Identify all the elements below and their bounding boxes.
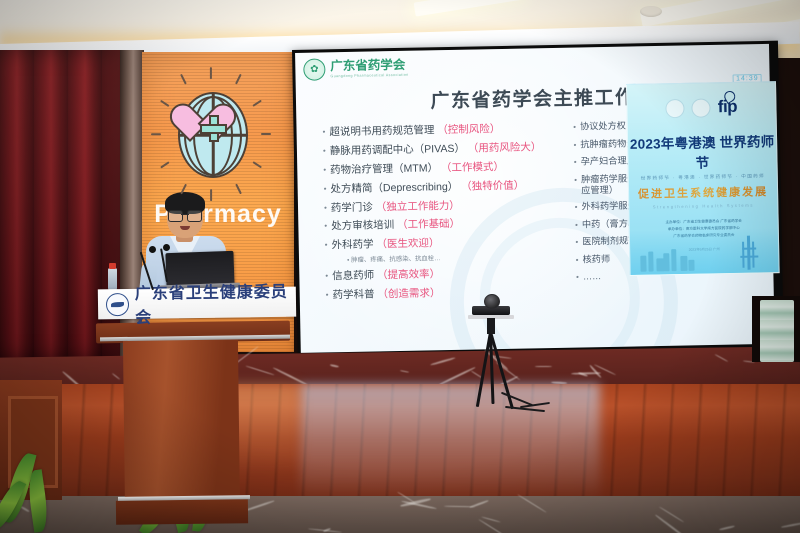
bullet-dot-icon: •	[325, 240, 328, 252]
bullet-dot-icon: •	[322, 126, 325, 138]
bullet-highlight: （提高效率）	[374, 268, 440, 281]
bullet-text: 药物治疗管理（MTM） （工作模式）	[330, 161, 504, 177]
speaker-glasses-icon	[168, 210, 202, 220]
building-shape	[663, 253, 669, 271]
slide-bullet: •信息药师 （提高效率）	[325, 266, 572, 283]
bullet-highlight: （独立工作能力）	[373, 199, 460, 213]
marble-vein	[430, 357, 455, 366]
camera-lens-icon	[484, 294, 500, 309]
marble-vein	[112, 372, 121, 379]
bullet-dot-icon: •	[324, 221, 327, 233]
bullet-highlight: （控制风险）	[434, 123, 500, 136]
medical-cross-icon	[203, 118, 220, 135]
podium-sign-text: 广东省卫生健康委员会	[135, 278, 297, 328]
association-name-en: Guangdong Pharmaceutical Association	[330, 73, 408, 78]
bullet-dot-icon: •	[573, 139, 576, 151]
podium-sign: 广东省卫生健康委员会	[98, 287, 296, 320]
bullet-text: 外科药学 （医生欢迎）	[331, 237, 439, 251]
marble-vein	[400, 370, 410, 373]
marble-vein	[535, 366, 552, 367]
slide-org-logo: 广东省药学会 Guangdong Pharmaceutical Associat…	[303, 57, 409, 81]
bullet-text: 处方精简（Deprescribing） （独特价值）	[330, 179, 524, 195]
banner-title-sub: 世界药师节 · 粤港澳 · 世界药师节 · 中国药师	[629, 173, 777, 182]
bullet-dot-icon: •	[575, 237, 578, 249]
banner-title: 2023年粤港澳 世界药师节	[628, 130, 777, 173]
bullet-highlight: （独特价值）	[458, 179, 524, 192]
bullet-dot-icon: •	[326, 289, 329, 301]
ceiling-light-fixture	[414, 0, 525, 17]
fip-logo: fip	[718, 97, 738, 117]
organizer-logo-icon	[666, 98, 685, 117]
marble-vein	[469, 500, 489, 509]
bullet-dot-icon: •	[575, 202, 578, 214]
slide-bullet: •药物治疗管理（MTM） （工作模式）	[323, 159, 570, 176]
slide-bullet: •药学科普 （创造需求）	[326, 285, 573, 302]
slide-bullet: •药学门诊 （独立工作能力）	[324, 197, 571, 214]
banner-subtitle: 促进卫生系统健康发展	[629, 183, 777, 202]
bullet-dot-icon: •	[574, 157, 577, 169]
water-bottle-cap	[109, 263, 116, 269]
bullet-dot-icon: •	[323, 164, 326, 176]
bullet-highlight: （用药风险大）	[465, 141, 542, 154]
microphone-head	[163, 244, 170, 251]
slide-left-column: •超说明书用药规范管理 （控制风险）•静脉用药调配中心（PIVAS） （用药风险…	[296, 122, 572, 309]
slide-bullet: •静脉用药调配中心（PIVAS） （用药风险大）	[323, 141, 570, 158]
bullet-dot-icon: •	[574, 174, 577, 186]
slide-sub-bullet: • 肿瘤、疼痛、抗感染、抗血栓…	[347, 251, 572, 264]
bullet-dot-icon: •	[324, 183, 327, 195]
sunburst-ray	[151, 133, 161, 135]
bullet-dot-icon: •	[576, 272, 579, 284]
banner-tower-icon	[736, 235, 763, 269]
bullet-highlight: （创造需求）	[374, 287, 440, 300]
marble-vein	[517, 494, 546, 513]
tower-segment	[742, 248, 756, 250]
marble-vein	[246, 365, 275, 375]
bullet-text: 药学科普 （创造需求）	[332, 287, 440, 301]
tower-segment	[740, 255, 758, 257]
floor-reflection-screen	[300, 384, 600, 502]
bullet-highlight: （工作模式）	[438, 161, 504, 174]
sunburst-ray	[210, 189, 212, 201]
building-shape	[640, 256, 646, 272]
association-name-cn: 广东省药学会	[330, 59, 408, 73]
bullet-highlight: （工作基础）	[394, 218, 460, 231]
marble-vein	[781, 522, 800, 528]
bullet-text: 处方审核培训 （工作基础）	[331, 218, 460, 233]
building-shape	[680, 256, 687, 271]
marble-vein	[715, 354, 729, 362]
building-shape	[671, 249, 676, 271]
sunburst-ray	[210, 67, 212, 79]
building-shape	[688, 260, 694, 271]
bullet-dot-icon: •	[324, 202, 327, 214]
marble-vein	[719, 525, 735, 531]
microphone-head	[149, 246, 156, 253]
marble-vein	[329, 364, 339, 368]
bullet-text: 核药师	[582, 254, 610, 265]
water-bottles	[760, 300, 794, 362]
bullet-dot-icon: •	[325, 270, 328, 282]
marble-vein	[478, 519, 508, 533]
conference-photo-scene: Pharmacy 广东省药学会 Guangdong Pharmaceutical…	[0, 0, 800, 533]
government-seal-icon	[106, 292, 129, 315]
tower-segment	[747, 236, 751, 270]
bullet-dot-icon: •	[323, 145, 326, 157]
association-seal-icon	[303, 58, 325, 80]
marble-vein	[20, 506, 29, 513]
banner-subtitle-en: Strengthening Health Systems	[629, 202, 777, 210]
bullet-highlight: （医生欢迎）	[373, 237, 439, 250]
banner-buildings-icon	[640, 249, 700, 272]
podium-body	[123, 339, 240, 515]
tripod-head	[487, 318, 495, 334]
bullet-dot-icon: •	[576, 254, 579, 266]
bullet-text: 静脉用药调配中心（PIVAS） （用药风险大）	[330, 141, 542, 157]
bullet-text: ……	[583, 272, 602, 283]
slide-bullet: •外科药学 （医生欢迎）	[325, 235, 572, 252]
building-shape	[648, 252, 653, 272]
water-bottle	[108, 268, 117, 290]
organizer-logo-icon	[692, 98, 711, 117]
bullet-text: 超说明书用药规范管理 （控制风险）	[329, 123, 500, 139]
event-banner: fip 2023年粤港澳 世界药师节 世界药师节 · 粤港澳 · 世界药师节 ·…	[626, 81, 780, 276]
banner-logo-row: fip	[627, 96, 775, 119]
marble-vein	[438, 366, 474, 384]
slide-bullet: •处方精简（Deprescribing） （独特价值）	[324, 178, 571, 195]
slide-bullet: •处方审核培训 （工作基础）	[324, 216, 571, 233]
bullet-text: 药学门诊 （独立工作能力）	[331, 199, 460, 214]
bullet-dot-icon: •	[573, 122, 576, 134]
podium-base	[116, 499, 248, 525]
bullet-dot-icon: •	[575, 219, 578, 231]
marble-vein	[273, 366, 309, 385]
sunburst-ray	[261, 133, 271, 135]
marble-vein	[654, 514, 690, 533]
ceiling-speaker-icon	[640, 6, 662, 17]
bullet-text: 信息药师 （提高效率）	[332, 268, 440, 282]
